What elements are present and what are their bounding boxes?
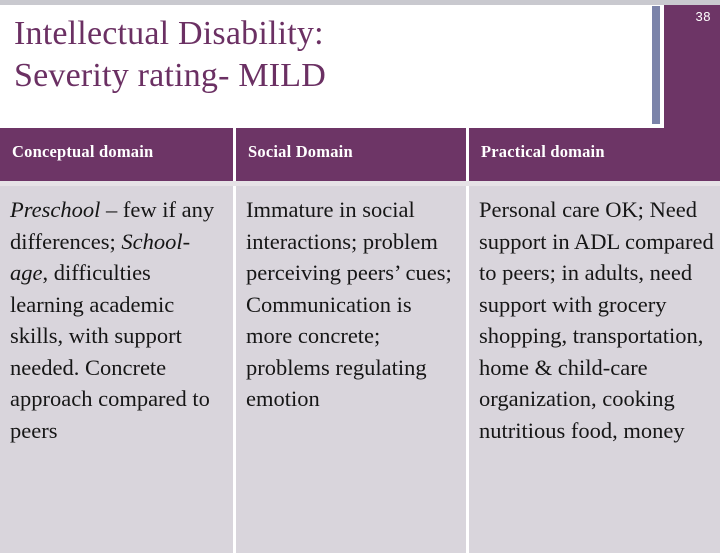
slide-canvas: Intellectual Disability: Severity rating… bbox=[0, 0, 720, 553]
table-header-practical-domain: Practical domain bbox=[469, 128, 720, 181]
table-cell-practical-domain: Personal care OK; Need support in ADL co… bbox=[469, 186, 720, 553]
table-header-row: Conceptual domain Social Domain Practica… bbox=[0, 128, 720, 181]
table-cell-conceptual-domain: Preschool – few if any differences; Scho… bbox=[0, 186, 233, 553]
severity-rating-table: Conceptual domain Social Domain Practica… bbox=[0, 128, 720, 553]
page-number-box: 38 bbox=[664, 5, 720, 128]
table-header-conceptual-domain: Conceptual domain bbox=[0, 128, 233, 181]
slide-title-block: Intellectual Disability: Severity rating… bbox=[0, 5, 652, 126]
slide-title-line-1: Intellectual Disability: bbox=[14, 13, 652, 55]
accent-bar bbox=[652, 6, 660, 124]
table-cell-social-domain: Immature in social interactions; problem… bbox=[236, 186, 466, 553]
slide-title-line-2: Severity rating- MILD bbox=[14, 55, 652, 97]
table-row: Preschool – few if any differences; Scho… bbox=[0, 186, 720, 553]
page-number: 38 bbox=[696, 9, 711, 24]
table-header-social-domain: Social Domain bbox=[236, 128, 466, 181]
